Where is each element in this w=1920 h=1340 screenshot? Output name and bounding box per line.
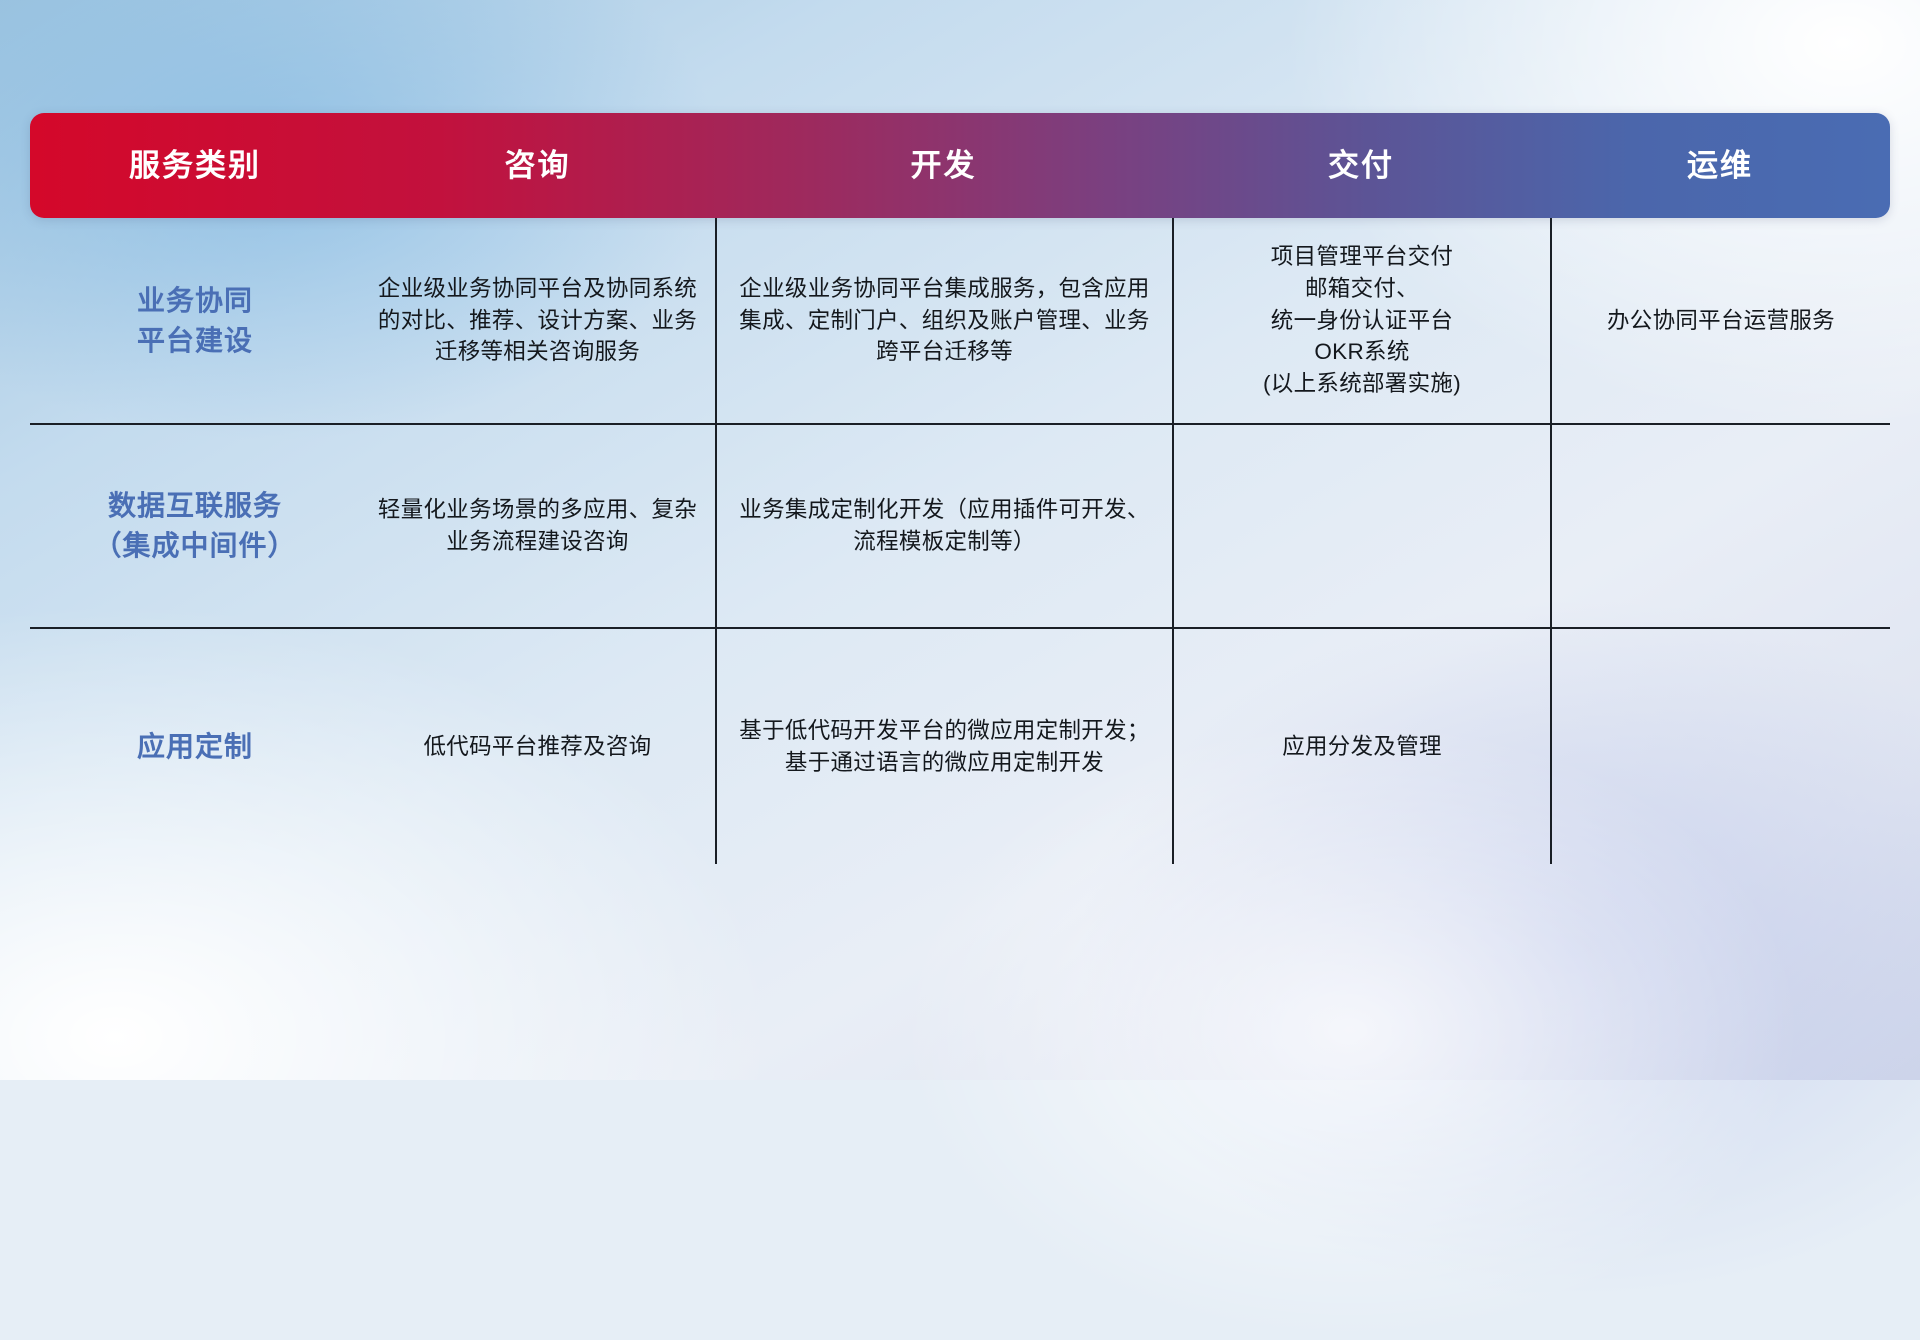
cell-category: 应用定制 <box>30 629 360 864</box>
cell-text-line: 项目管理平台交付 <box>1263 241 1461 273</box>
cell-operations <box>1550 425 1890 627</box>
column-header-category: 服务类别 <box>30 150 360 181</box>
cell-operations: 办公协同平台运营服务 <box>1550 218 1890 423</box>
cell-category: 业务协同平台建设 <box>30 218 360 423</box>
cell-text-line: 办公协同平台运营服务 <box>1607 305 1835 337</box>
cell-text-line: 轻量化业务场景的多应用、复杂业务流程建设咨询 <box>374 494 701 558</box>
cell-text-line: （集成中间件） <box>93 526 296 566</box>
table-header-row: 服务类别 咨询 开发 交付 运维 <box>30 113 1890 218</box>
cell-text-line: 低代码平台推荐及咨询 <box>423 731 651 763</box>
cell-text-line: 业务协同 <box>137 281 253 321</box>
cell-category: 数据互联服务（集成中间件） <box>30 425 360 627</box>
column-header-development: 开发 <box>715 150 1172 181</box>
table-row: 应用定制 低代码平台推荐及咨询 基于低代码开发平台的微应用定制开发；基于通过语言… <box>30 627 1890 864</box>
cell-text-line: OKR系统 <box>1263 336 1461 368</box>
cell-development: 业务集成定制化开发（应用插件可开发、流程模板定制等） <box>715 425 1172 627</box>
table-row: 数据互联服务（集成中间件） 轻量化业务场景的多应用、复杂业务流程建设咨询 业务集… <box>30 423 1890 627</box>
cell-delivery <box>1172 425 1550 627</box>
cell-text-line: (以上系统部署实施) <box>1263 368 1461 400</box>
cell-operations <box>1550 629 1890 864</box>
cell-development: 基于低代码开发平台的微应用定制开发；基于通过语言的微应用定制开发 <box>715 629 1172 864</box>
cell-consulting: 企业级业务协同平台及协同系统的对比、推荐、设计方案、业务迁移等相关咨询服务 <box>360 218 715 423</box>
cell-text-line: 企业级业务协同平台集成服务，包含应用集成、定制门户、组织及账户管理、业务跨平台迁… <box>731 273 1158 369</box>
cell-text-line: 业务集成定制化开发（应用插件可开发、流程模板定制等） <box>731 494 1158 558</box>
cell-text-line: 平台建设 <box>137 321 253 361</box>
column-header-delivery: 交付 <box>1172 150 1550 181</box>
column-header-consulting: 咨询 <box>360 150 715 181</box>
cell-consulting: 低代码平台推荐及咨询 <box>360 629 715 864</box>
cell-delivery: 项目管理平台交付邮箱交付、统一身份认证平台OKR系统(以上系统部署实施) <box>1172 218 1550 423</box>
table-row: 业务协同平台建设 企业级业务协同平台及协同系统的对比、推荐、设计方案、业务迁移等… <box>30 218 1890 423</box>
cell-text-line: 统一身份认证平台 <box>1263 305 1461 337</box>
service-matrix-table: 服务类别 咨询 开发 交付 运维 业务协同平台建设 企业级业务协同平台及协同系统… <box>30 113 1890 864</box>
cell-consulting: 轻量化业务场景的多应用、复杂业务流程建设咨询 <box>360 425 715 627</box>
cell-delivery: 应用分发及管理 <box>1172 629 1550 864</box>
cell-text-line: 邮箱交付、 <box>1263 273 1461 305</box>
slide-canvas: 服务类别 咨询 开发 交付 运维 业务协同平台建设 企业级业务协同平台及协同系统… <box>0 0 1920 1080</box>
cell-text-line: 企业级业务协同平台及协同系统的对比、推荐、设计方案、业务迁移等相关咨询服务 <box>374 273 701 369</box>
cell-development: 企业级业务协同平台集成服务，包含应用集成、定制门户、组织及账户管理、业务跨平台迁… <box>715 218 1172 423</box>
cell-text-line: 基于通过语言的微应用定制开发 <box>739 747 1149 779</box>
cell-text-line: 应用分发及管理 <box>1282 731 1442 763</box>
table-body: 业务协同平台建设 企业级业务协同平台及协同系统的对比、推荐、设计方案、业务迁移等… <box>30 218 1890 864</box>
cell-text-line: 应用定制 <box>137 727 253 767</box>
cell-text-line: 基于低代码开发平台的微应用定制开发； <box>739 715 1149 747</box>
cell-text-line: 数据互联服务 <box>93 486 296 526</box>
column-header-operations: 运维 <box>1550 150 1890 181</box>
